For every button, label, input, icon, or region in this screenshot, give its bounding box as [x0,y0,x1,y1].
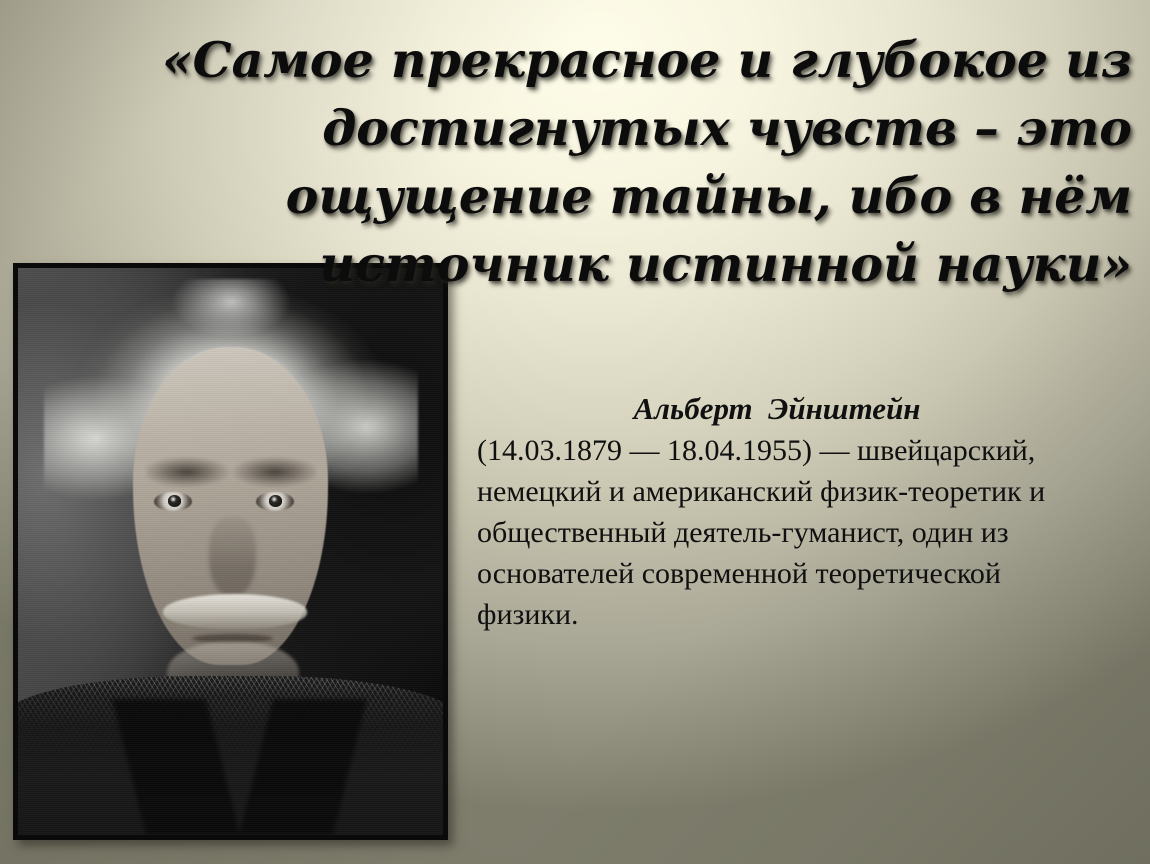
portrait-pupil-right [269,495,283,506]
portrait-pupil-left [168,495,182,506]
portrait-brow [146,455,316,489]
quote-text: «Самое прекрасное и глубокое из достигну… [14,26,1132,298]
portrait-moustache [163,594,308,629]
person-description: (14.03.1879 — 18.04.1955) — швейцарский,… [477,430,1077,635]
biography-block: Альберт Эйнштейн (14.03.1879 — 18.04.195… [477,388,1077,635]
einstein-portrait-frame [13,263,448,840]
einstein-portrait-photo [18,268,443,835]
presentation-slide: «Самое прекрасное и глубокое из достигну… [0,0,1150,864]
person-name: Альберт Эйнштейн [477,388,1077,430]
portrait-nose [209,517,256,596]
